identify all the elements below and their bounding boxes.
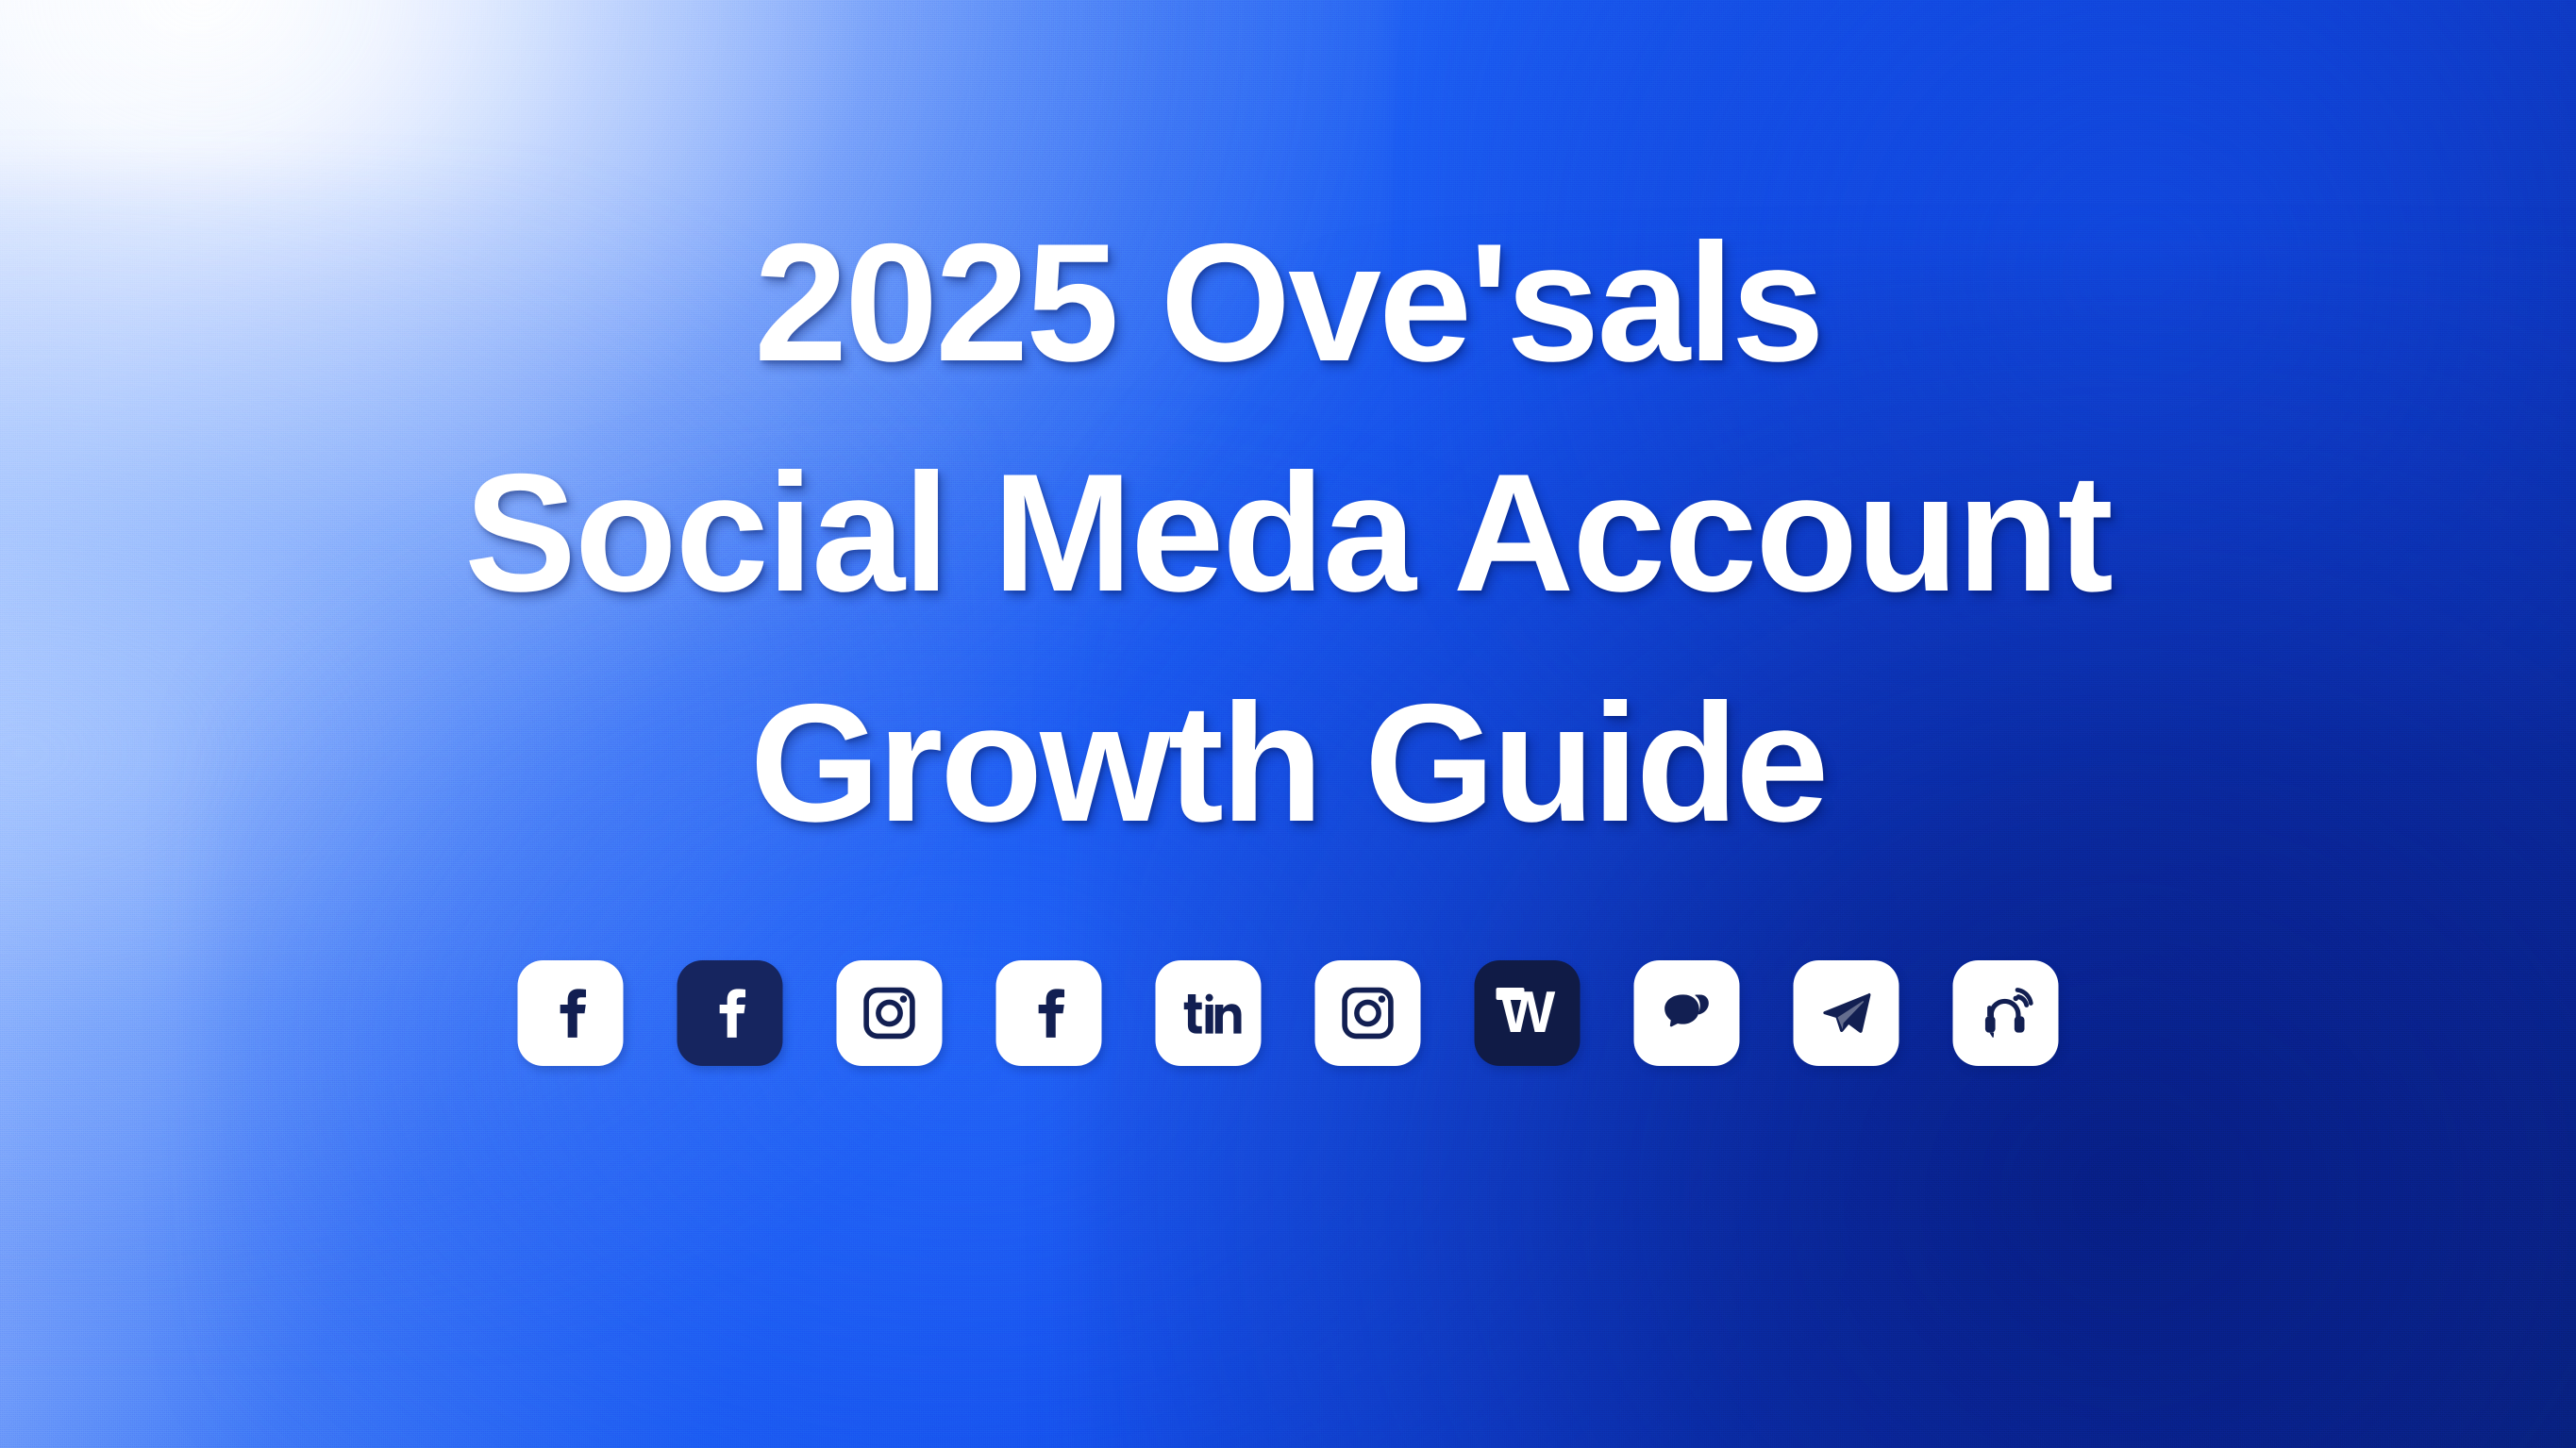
facebook-icon[interactable]: [996, 960, 1102, 1066]
wordpress-letter: W: [1500, 984, 1555, 1042]
facebook-icon[interactable]: [518, 960, 624, 1066]
telegram-icon[interactable]: [1794, 960, 1899, 1066]
instagram-icon[interactable]: [837, 960, 943, 1066]
headline-line-1: 2025 Ove'sals: [0, 247, 2576, 358]
page-title: 2025 Ove'sals Social Meda Account Growth…: [0, 0, 2576, 819]
podcast-icon[interactable]: [1953, 960, 2059, 1066]
poster-content: 2025 Ove'sals Social Meda Account Growth…: [0, 0, 2576, 1448]
facebook-icon[interactable]: [677, 960, 783, 1066]
poster-canvas: 2025 Ove'sals Social Meda Account Growth…: [0, 0, 2576, 1448]
headline-line-3: Growth Guide: [0, 707, 2576, 819]
headline-line-2: Social Meda Account: [0, 477, 2576, 589]
chat-bubble-icon[interactable]: [1634, 960, 1740, 1066]
instagram-icon[interactable]: [1315, 960, 1421, 1066]
linkedin-icon[interactable]: [1156, 960, 1262, 1066]
social-icon-row: W: [518, 960, 2059, 1066]
wordpress-icon[interactable]: W: [1475, 960, 1581, 1066]
